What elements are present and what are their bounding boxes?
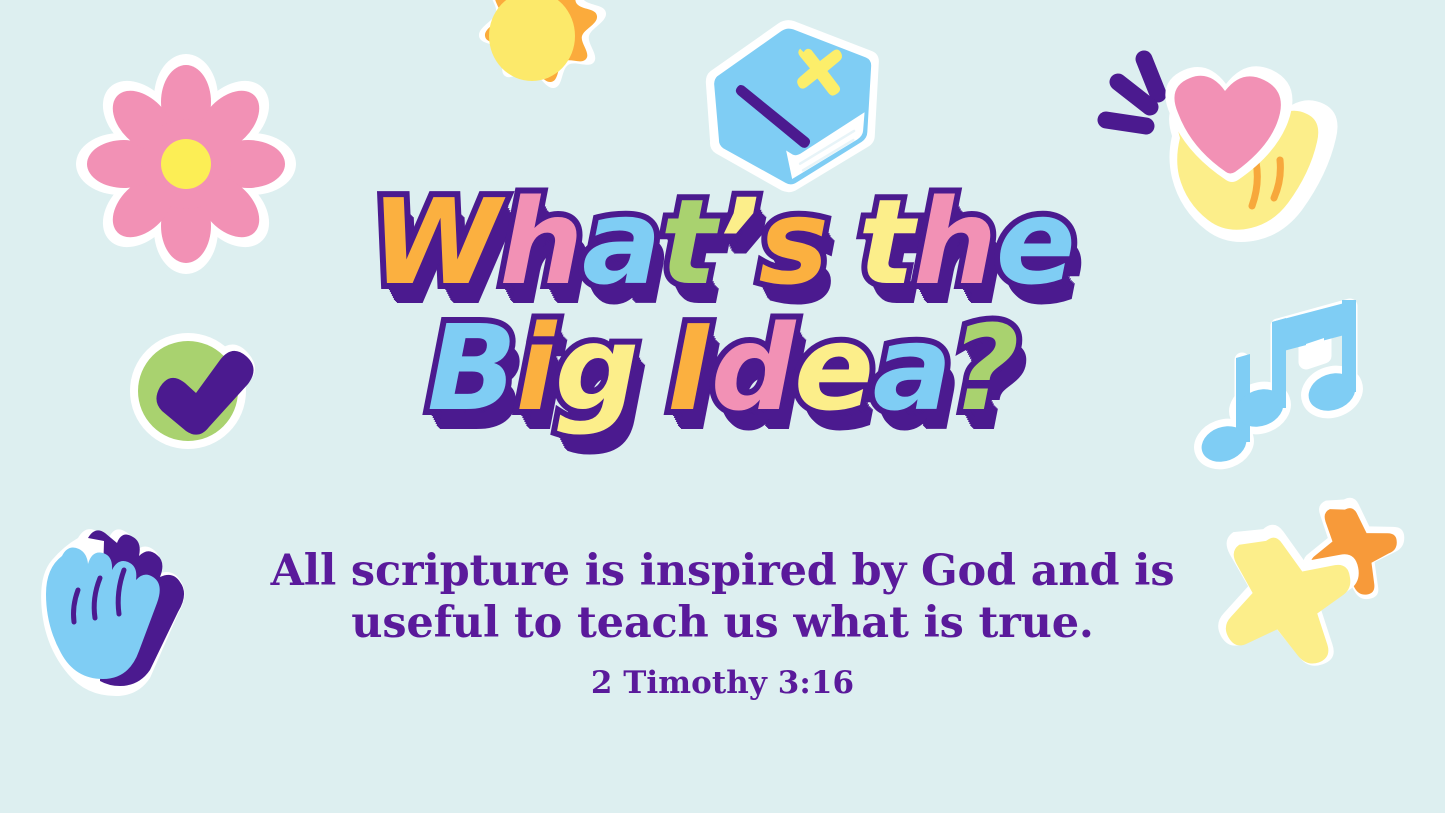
title-glyph: e <box>794 308 873 428</box>
title-glyph: i <box>516 308 555 428</box>
verse-reference: 2 Timothy 3:16 <box>0 663 1445 703</box>
verse-line-2: useful to teach us what is true. <box>0 597 1445 649</box>
title-glyph: a <box>582 182 660 302</box>
title-glyph: a <box>873 308 951 428</box>
title-glyph: I <box>668 308 711 428</box>
title-glyph: d <box>711 308 794 428</box>
title-glyph: h <box>913 182 996 302</box>
sun-sticker <box>452 0 612 118</box>
verse-line-1: All scripture is inspired by God and is <box>0 545 1445 597</box>
title-glyph <box>827 182 858 302</box>
title-glyph: W <box>371 182 500 302</box>
verse-block: All scripture is inspired by God and is … <box>0 545 1445 703</box>
sun-icon <box>479 0 606 88</box>
title-line-1: What’s the <box>0 182 1445 302</box>
title-glyph: h <box>499 182 582 302</box>
page-title: What’s the Big Idea? <box>0 182 1445 428</box>
title-glyph: e <box>996 182 1075 302</box>
title-glyph: t <box>660 182 715 302</box>
title-glyph: t <box>858 182 913 302</box>
title-glyph <box>638 308 669 428</box>
title-line-2: Big Idea? <box>0 308 1445 428</box>
slide-canvas: What’s the Big Idea? All scripture is in… <box>0 0 1445 813</box>
title-glyph: g <box>555 308 638 428</box>
title-glyph: B <box>427 308 516 428</box>
title-glyph: ’ <box>715 182 758 302</box>
title-glyph: s <box>759 182 828 302</box>
bible-sticker <box>694 18 894 193</box>
title-glyph: ? <box>951 308 1018 428</box>
